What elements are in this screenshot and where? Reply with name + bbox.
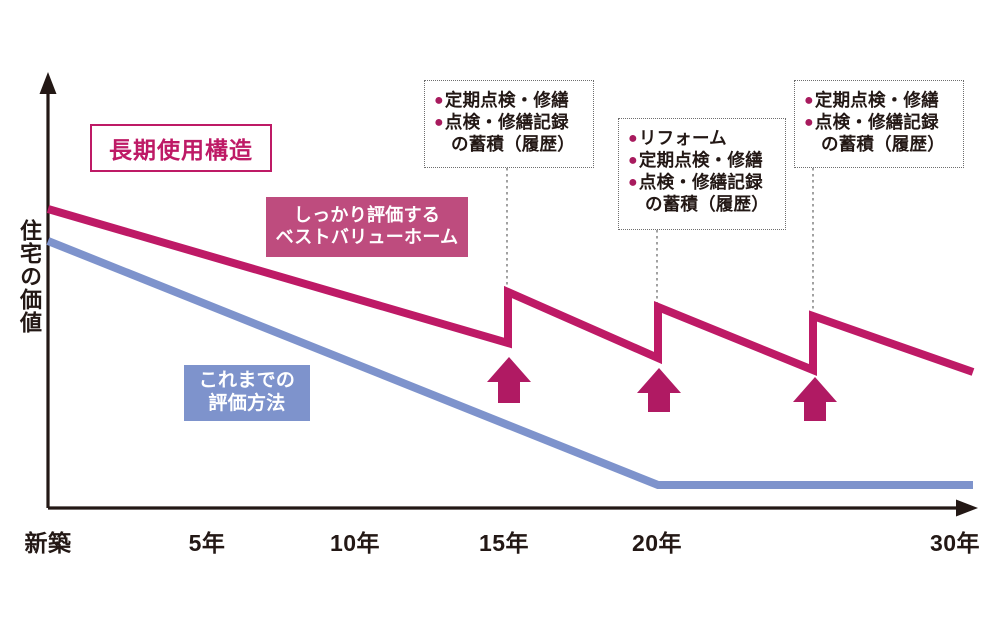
previous-method-callout-line-2: 評価方法 — [208, 393, 285, 416]
x-tick-label-3: 15年 — [479, 524, 529, 558]
y-axis-arrowhead — [40, 72, 57, 94]
value-uplift-arrow-1 — [487, 357, 531, 403]
y-axis-title: 住宅の価値 — [6, 196, 40, 356]
value-uplift-arrows — [487, 357, 837, 421]
annotation-box-3-line-1: ●定期点検・修繕 — [804, 89, 953, 111]
annotation-text: リフォーム — [639, 128, 727, 148]
bullet-icon: ● — [804, 114, 814, 131]
bullet-icon: ● — [804, 92, 814, 109]
annotation-box-3-line-3: の蓄積（履歴） — [804, 133, 953, 155]
annotation-text: の蓄積（履歴） — [451, 134, 575, 154]
best-value-home-callout: しっかり評価する ベストバリューホーム — [266, 197, 468, 257]
best-value-callout-line-1: しっかり評価する — [294, 205, 440, 227]
annotation-text: の蓄積（履歴） — [821, 134, 945, 154]
x-tick-label-5: 30年 — [930, 524, 980, 558]
annotation-text: 定期点検・修繕 — [639, 150, 763, 170]
annotation-box-2-line-1: ●リフォーム — [628, 127, 775, 149]
bullet-icon: ● — [434, 114, 444, 131]
housing-value-chart: 住宅の価値 長期使用構造 しっかり評価する ベストバリューホーム これまでの 評… — [0, 0, 1000, 618]
x-tick-label-1: 5年 — [189, 524, 226, 558]
annotation-box-1-line-2: ●点検・修繕記録 — [434, 111, 583, 133]
annotation-text: 定期点検・修繕 — [815, 90, 939, 110]
x-axis-arrowhead — [956, 500, 978, 517]
annotation-box-3: ●定期点検・修繕●点検・修繕記録の蓄積（履歴） — [794, 80, 964, 168]
annotation-text: 点検・修繕記録 — [815, 112, 939, 132]
annotation-text: 定期点検・修繕 — [445, 90, 569, 110]
annotation-box-1: ●定期点検・修繕●点検・修繕記録の蓄積（履歴） — [424, 80, 594, 168]
annotation-box-2-line-2: ●定期点検・修繕 — [628, 149, 775, 171]
annotation-box-1-line-3: の蓄積（履歴） — [434, 133, 583, 155]
best-value-callout-line-2: ベストバリューホーム — [276, 227, 459, 249]
annotation-box-2: ●リフォーム●定期点検・修繕●点検・修繕記録の蓄積（履歴） — [618, 118, 786, 230]
previous-method-callout-line-1: これまでの — [199, 370, 296, 393]
bullet-icon: ● — [628, 152, 638, 169]
bullet-icon: ● — [434, 92, 444, 109]
series-line-best-value-home — [48, 209, 973, 372]
annotation-text: 点検・修繕記録 — [445, 112, 569, 132]
longterm-structure-label: 長期使用構造 — [109, 131, 253, 165]
bullet-icon: ● — [628, 130, 638, 147]
x-tick-label-4: 20年 — [632, 524, 682, 558]
value-uplift-arrow-3 — [793, 377, 837, 421]
longterm-structure-badge: 長期使用構造 — [90, 124, 272, 172]
annotation-text: の蓄積（履歴） — [645, 194, 769, 214]
value-uplift-arrow-2 — [637, 368, 681, 412]
annotation-box-2-line-4: の蓄積（履歴） — [628, 193, 775, 215]
annotation-text: 点検・修繕記録 — [639, 172, 763, 192]
previous-method-callout: これまでの 評価方法 — [184, 365, 310, 421]
x-tick-label-2: 10年 — [330, 524, 380, 558]
annotation-box-3-line-2: ●点検・修繕記録 — [804, 111, 953, 133]
annotation-box-1-line-1: ●定期点検・修繕 — [434, 89, 583, 111]
annotation-box-2-line-3: ●点検・修繕記録 — [628, 171, 775, 193]
x-tick-label-0: 新築 — [25, 524, 72, 558]
bullet-icon: ● — [628, 174, 638, 191]
